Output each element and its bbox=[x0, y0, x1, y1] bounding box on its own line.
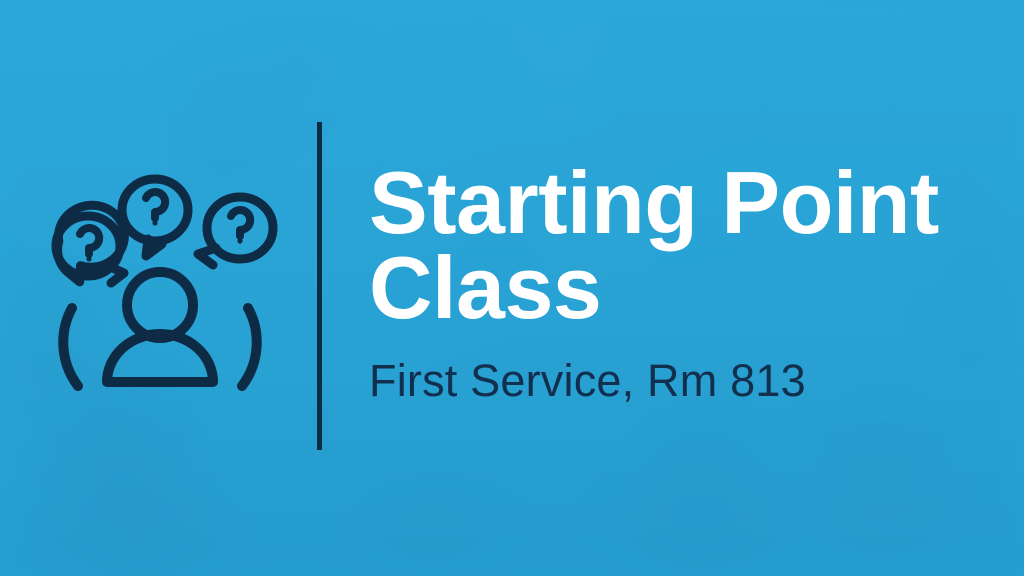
speech-bubble-left-shape bbox=[56, 216, 124, 283]
slide-canvas: Starting Point Class First Service, Rm 8… bbox=[0, 0, 1024, 576]
speech-bubble-middle-icon bbox=[122, 179, 188, 256]
person-head-icon bbox=[127, 272, 193, 338]
subtitle: First Service, Rm 813 bbox=[369, 357, 1009, 404]
text-block: Starting Point Class First Service, Rm 8… bbox=[369, 160, 1009, 404]
page-title: Starting Point Class bbox=[369, 160, 1009, 331]
vertical-divider bbox=[317, 122, 322, 450]
arc-right-icon bbox=[242, 308, 257, 386]
group-question-bubbles-icon bbox=[44, 160, 294, 410]
arc-left-icon bbox=[63, 308, 78, 386]
slide-content: Starting Point Class First Service, Rm 8… bbox=[0, 0, 1024, 576]
speech-bubble-right-icon bbox=[198, 197, 273, 265]
